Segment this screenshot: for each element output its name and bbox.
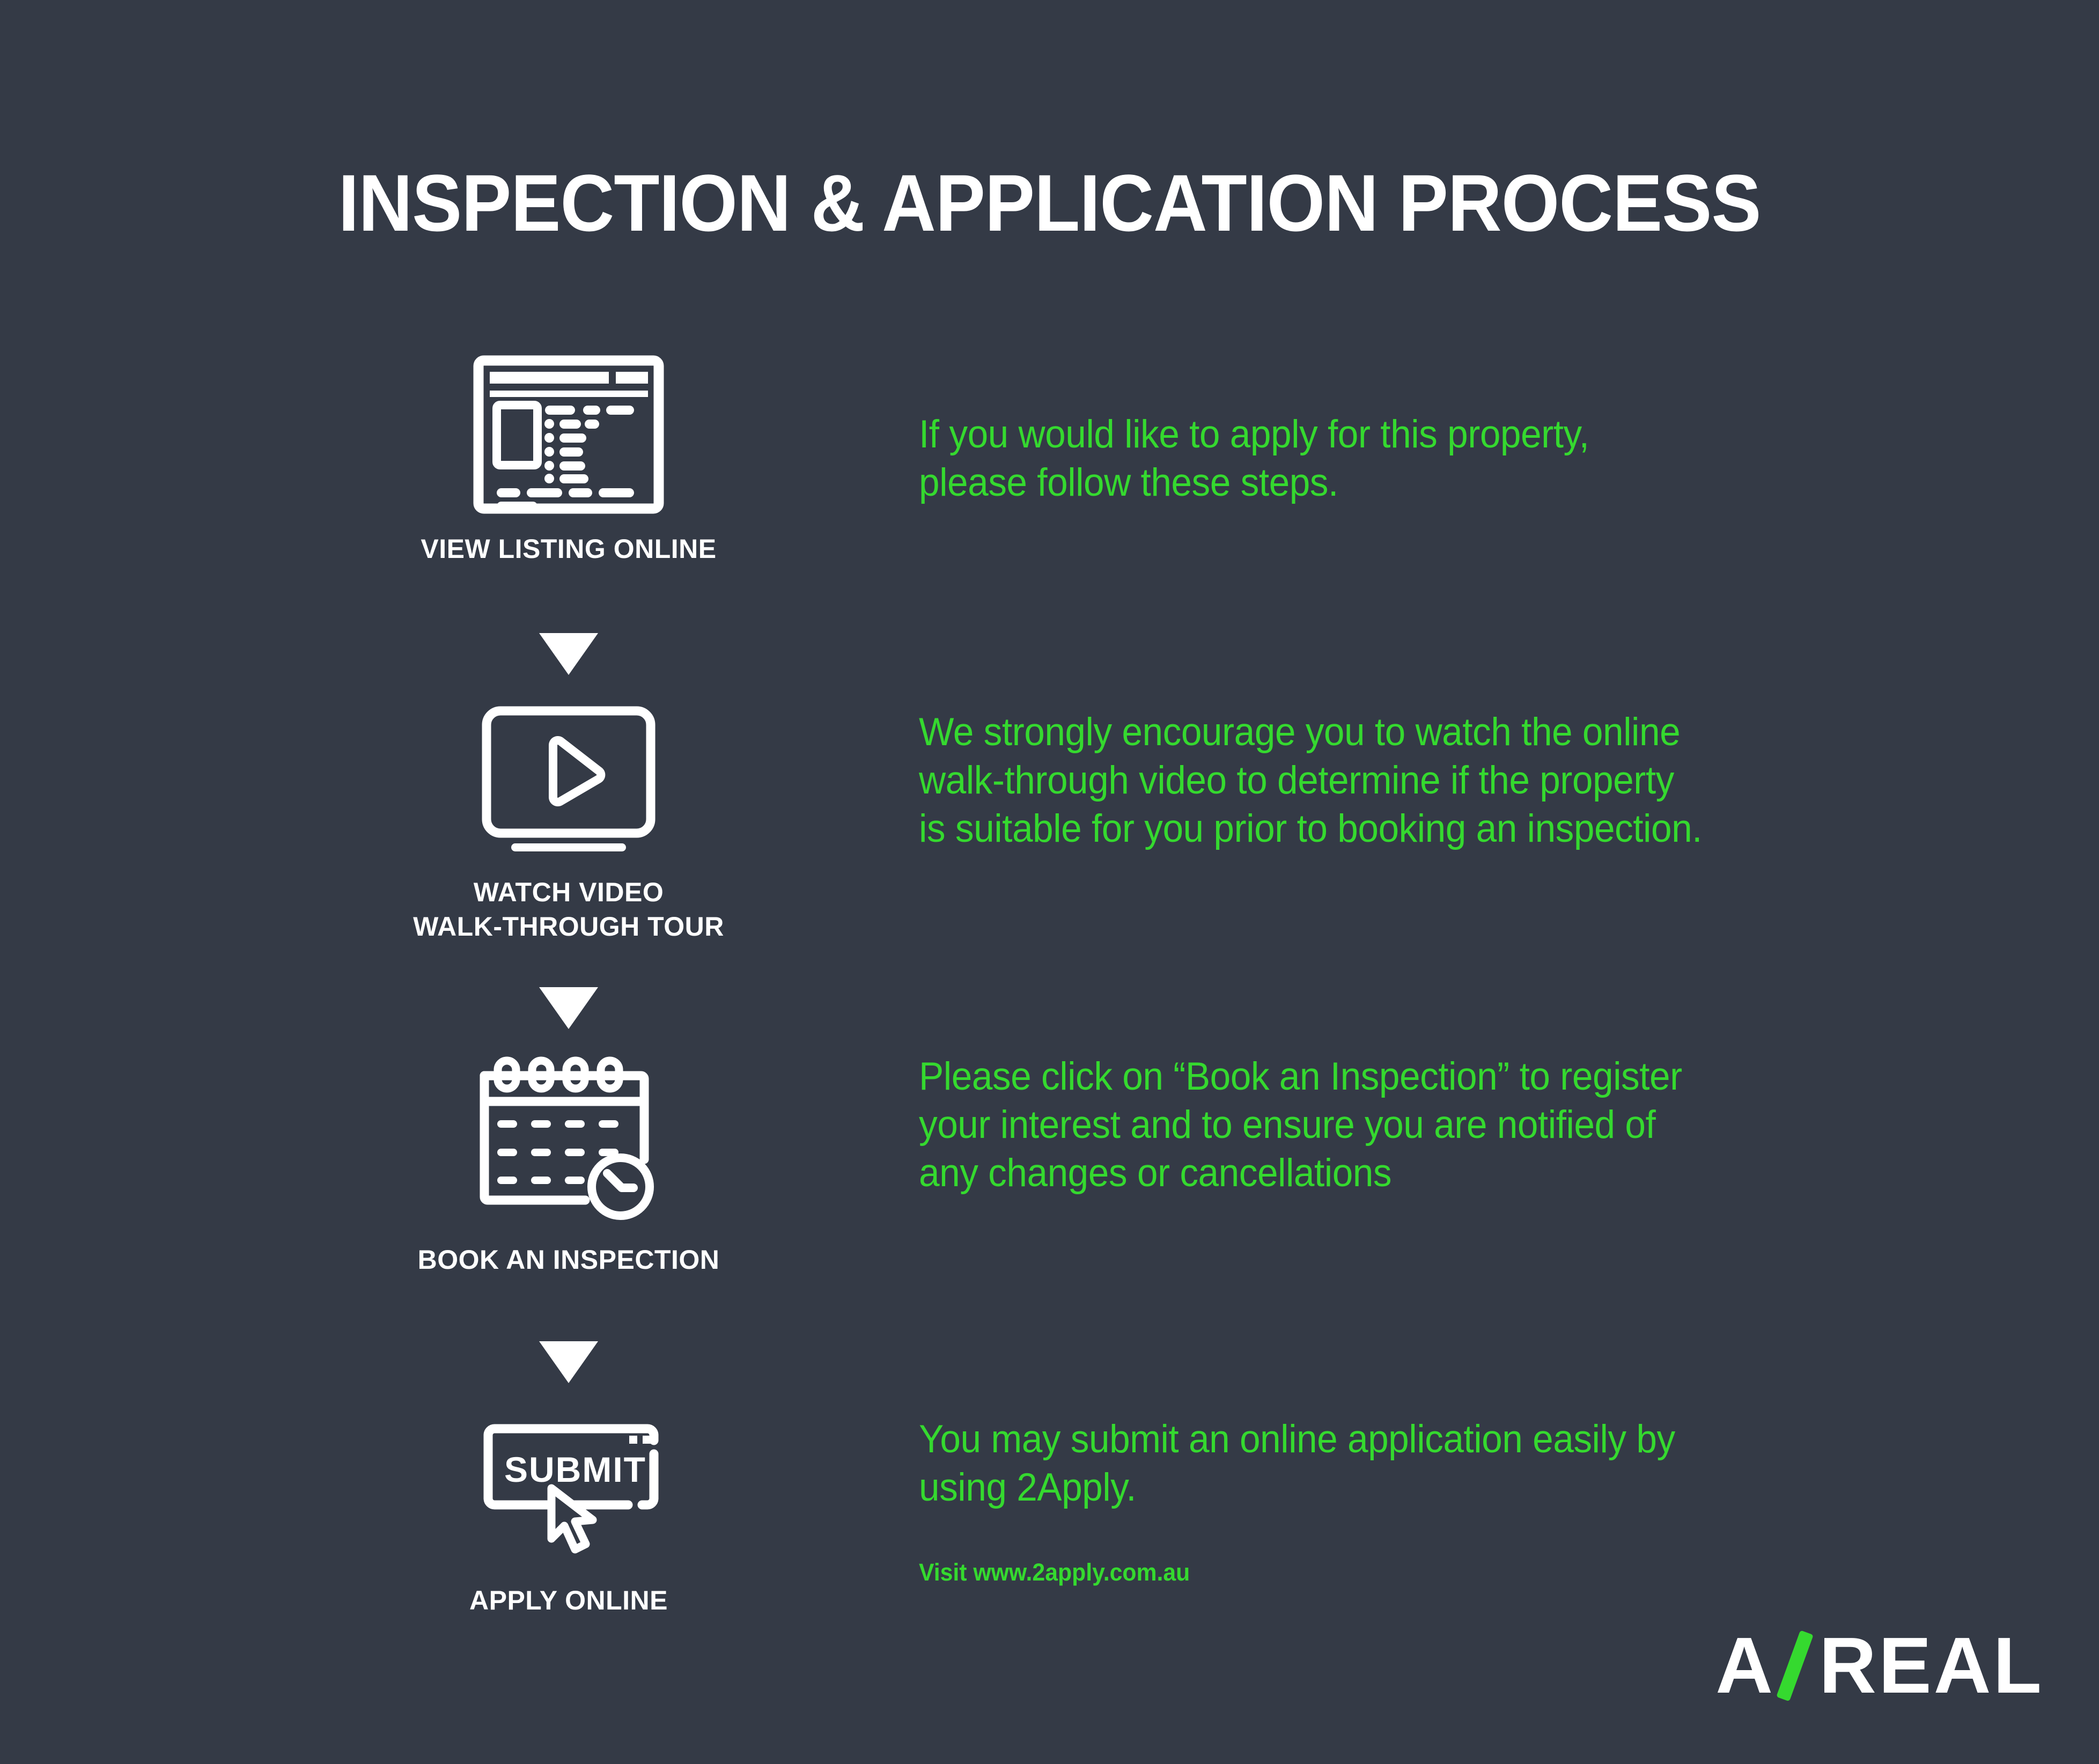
- calendar-clock-icon: [354, 1049, 783, 1229]
- down-arrow-icon: [539, 1341, 598, 1383]
- copy-block-book-inspection: Please click on “Book an Inspection” to …: [919, 1053, 1913, 1197]
- step-watch-video-walkthrough: WATCH VIDEO WALK-THROUGH TOUR: [354, 697, 783, 944]
- step-label: VIEW LISTING ONLINE: [354, 532, 783, 566]
- submit-icon-text: SUBMIT: [504, 1450, 646, 1489]
- step-apply-online: SUBMIT APPLY ONLINE: [354, 1411, 783, 1618]
- video-play-monitor-icon: [354, 697, 783, 861]
- page-title: INSPECTION & APPLICATION PROCESS: [73, 157, 2026, 249]
- poster-background: INSPECTION & APPLICATION PROCESS: [0, 0, 2099, 1764]
- logo-letter-a: A: [1715, 1626, 1775, 1706]
- browser-listing-icon: [354, 354, 783, 518]
- logo-slash-icon: [1776, 1630, 1818, 1701]
- down-arrow-icon: [539, 987, 598, 1029]
- down-arrow-icon: [539, 633, 598, 675]
- copy-block-apply-2apply: You may submit an online application eas…: [919, 1415, 1913, 1512]
- step-view-listing-online: VIEW LISTING ONLINE: [354, 354, 783, 566]
- step-book-an-inspection: BOOK AN INSPECTION: [354, 1049, 783, 1277]
- copy-block-apply-steps: If you would like to apply for this prop…: [919, 410, 1887, 507]
- step-label: BOOK AN INSPECTION: [354, 1243, 783, 1277]
- copy-block-watch-video: We strongly encourage you to watch the o…: [919, 708, 1913, 852]
- step-label: APPLY ONLINE: [354, 1583, 783, 1618]
- visit-link-text[interactable]: Visit www.2apply.com.au: [919, 1559, 1190, 1586]
- submit-button-cursor-icon: SUBMIT: [354, 1411, 783, 1569]
- logo-word-real: REAL: [1819, 1626, 2044, 1706]
- brand-logo-areal: A REAL: [1715, 1631, 2044, 1701]
- step-label: WATCH VIDEO WALK-THROUGH TOUR: [354, 875, 783, 944]
